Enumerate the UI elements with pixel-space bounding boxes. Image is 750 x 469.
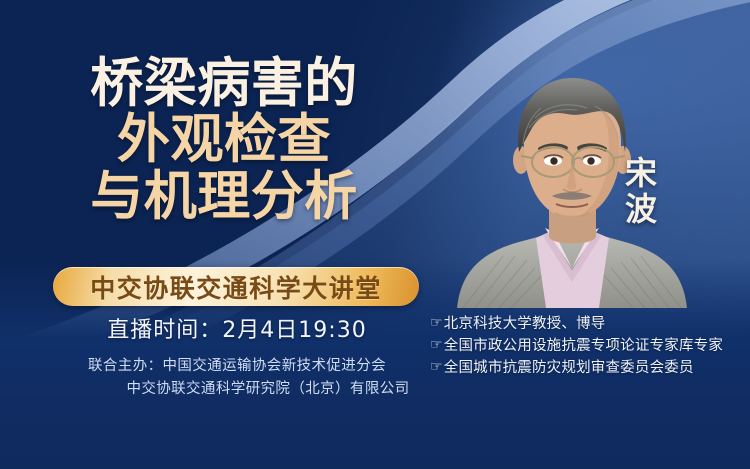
speaker-credentials: ☞ 北京科技大学教授、博导 ☞ 全国市政公用设施抗震专项论证专家库专家 ☞ 全国…: [430, 313, 750, 379]
series-badge: 中交协联交通科学大讲堂: [53, 267, 419, 306]
title-line-1: 桥梁病害的: [0, 58, 448, 110]
organizer-line-1: 联合主办：中国交通运输协会新技术促进分会: [0, 355, 474, 378]
credential-text: 北京科技大学教授、博导: [444, 313, 606, 335]
credential-row: ☞ 北京科技大学教授、博导: [430, 313, 750, 335]
speaker-name: 宋 波: [625, 155, 657, 228]
pointing-hand-icon: ☞: [430, 357, 443, 378]
speaker-name-char-1: 宋: [625, 155, 657, 191]
credential-text: 全国城市抗震防灾规划审查委员会委员: [444, 357, 694, 379]
pointing-hand-icon: ☞: [430, 335, 443, 356]
credential-text: 全国市政公用设施抗震专项论证专家库专家: [444, 335, 723, 357]
title-line-2: 外观检查: [0, 114, 448, 166]
series-badge-label: 中交协联交通科学大讲堂: [90, 269, 382, 305]
organizer-line-2: 中交协联交通科学研究院（北京）有限公司: [0, 378, 474, 401]
organizers: 联合主办：中国交通运输协会新技术促进分会 中交协联交通科学研究院（北京）有限公司: [0, 355, 474, 402]
pointing-hand-icon: ☞: [430, 313, 443, 334]
credential-row: ☞ 全国市政公用设施抗震专项论证专家库专家: [430, 335, 750, 357]
speaker-name-char-2: 波: [625, 191, 657, 227]
poster-title: 桥梁病害的 外观检查 与机理分析: [0, 58, 448, 223]
speaker-portrait: [449, 56, 696, 308]
credential-row: ☞ 全国城市抗震防灾规划审查委员会委员: [430, 357, 750, 379]
title-line-3: 与机理分析: [0, 171, 448, 223]
live-time: 直播时间：2月4日19:30: [0, 312, 474, 344]
webinar-poster: 桥梁病害的 外观检查 与机理分析 中交协联交通科学大讲堂 直播时间：2月4日19…: [0, 0, 750, 469]
